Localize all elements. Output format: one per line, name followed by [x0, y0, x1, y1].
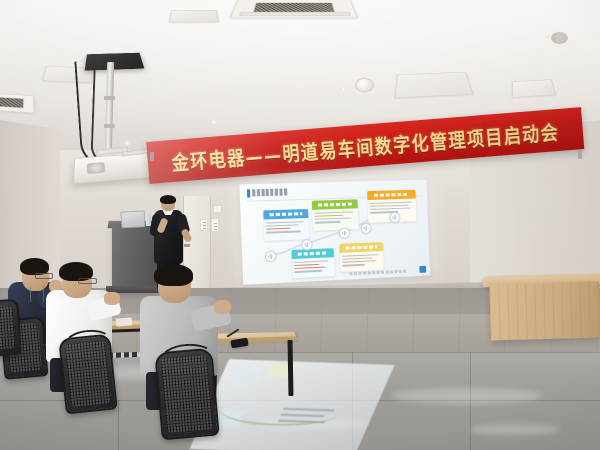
ac-vane: [239, 12, 351, 16]
roadmap-step-body: [340, 252, 384, 272]
banner-hook: [150, 152, 154, 161]
roadmap-step-body: [292, 258, 335, 278]
slide-logo-icon: [419, 266, 426, 273]
projection-screen: [239, 180, 430, 285]
roadmap-step-body: [264, 219, 310, 241]
office-chair[interactable]: [0, 299, 22, 358]
wall-sign: [211, 218, 219, 232]
ac-grille-icon: [0, 96, 24, 109]
air-diffuser: [394, 72, 473, 99]
tile-seam: [118, 400, 119, 450]
attendee-hands: [104, 292, 120, 305]
banner-hook: [578, 150, 582, 159]
roadmap-step-label: [263, 209, 308, 220]
air-diffuser: [169, 10, 219, 22]
roadmap-step-box: [339, 242, 383, 272]
downlight: [340, 86, 347, 91]
ac-cassette-unit: [0, 92, 35, 113]
wall-outlet-icon[interactable]: [213, 205, 222, 213]
roadmap-step-body: [312, 209, 359, 231]
lanyard: [30, 286, 44, 302]
laptop[interactable]: [120, 210, 145, 228]
presenter-hair: [160, 195, 176, 204]
presentation-slide: [239, 180, 430, 285]
chair-mesh-back: [0, 305, 16, 351]
marble-vein: [470, 424, 560, 435]
ac-cassette-unit: [230, 0, 359, 18]
projector-lens-icon: [87, 162, 106, 174]
wood-grain: [489, 282, 600, 341]
eyeglasses-icon: [78, 278, 97, 284]
meeting-room-photo: 金环电器——明道易车间数字化管理项目启动会: [0, 0, 600, 450]
attendee-hair: [154, 264, 193, 286]
ceiling-speaker-icon: [551, 32, 568, 44]
smoke-detector-icon: [355, 78, 374, 92]
marble-vein: [392, 388, 542, 404]
downlight: [211, 120, 217, 124]
attendee-hand-holding-pen: [214, 300, 231, 314]
roadmap-step-label: [367, 190, 416, 200]
roadmap-step-box: [312, 199, 359, 231]
roadmap-step-label: [312, 199, 358, 209]
table-leg: [288, 340, 293, 396]
roadmap-step-box: [263, 209, 309, 241]
air-diffuser: [512, 79, 556, 98]
side-table: [489, 282, 600, 341]
wall-sign: [200, 219, 208, 231]
downlight: [124, 141, 130, 145]
roadmap-step-box: [291, 248, 334, 278]
